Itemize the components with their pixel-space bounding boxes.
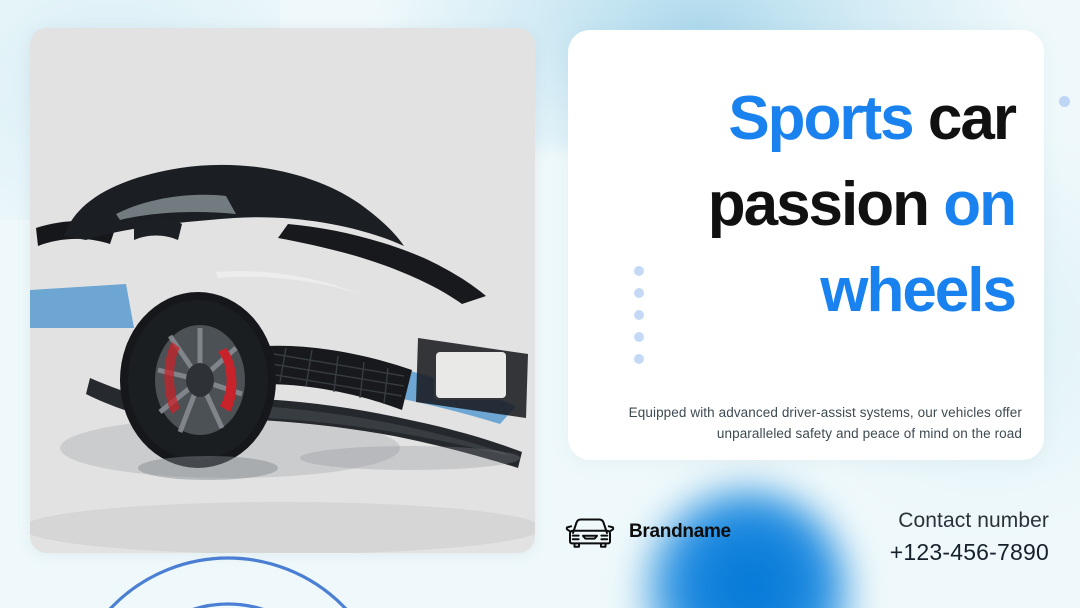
headline-line-1: Sports car bbox=[592, 76, 1015, 162]
headline-line-2: passion on bbox=[592, 162, 1015, 248]
headline-line-3: wheels bbox=[592, 248, 1015, 334]
dot-decoration-column bbox=[634, 266, 644, 364]
car-front-icon bbox=[564, 512, 616, 552]
headline-accent-on: on bbox=[943, 170, 1015, 239]
decoration-dot bbox=[634, 354, 644, 364]
headline-plain-car: car bbox=[928, 84, 1015, 153]
body-paragraph: Equipped with advanced driver-assist sys… bbox=[628, 402, 1022, 444]
headline: Sports car passion on wheels bbox=[592, 76, 1015, 334]
headline-accent-sports: Sports bbox=[728, 84, 912, 153]
accent-dot-right bbox=[1059, 96, 1070, 107]
brand-name: Brandname bbox=[629, 521, 731, 543]
hero-image-card bbox=[30, 28, 535, 553]
decoration-dot bbox=[634, 266, 644, 276]
decoration-dot bbox=[634, 288, 644, 298]
decoration-dot bbox=[634, 332, 644, 342]
headline-card: Sports car passion on wheels Equipped wi… bbox=[568, 30, 1044, 460]
contact-number[interactable]: +123-456-7890 bbox=[890, 536, 1049, 568]
contact-label: Contact number bbox=[890, 506, 1049, 536]
brand-logo[interactable]: Brandname bbox=[564, 512, 731, 552]
decoration-dot bbox=[634, 310, 644, 320]
sports-car-photo bbox=[30, 28, 535, 553]
headline-plain-passion: passion bbox=[708, 170, 928, 239]
contact-block: Contact number +123-456-7890 bbox=[890, 506, 1049, 568]
headline-accent-wheels: wheels bbox=[820, 256, 1015, 325]
